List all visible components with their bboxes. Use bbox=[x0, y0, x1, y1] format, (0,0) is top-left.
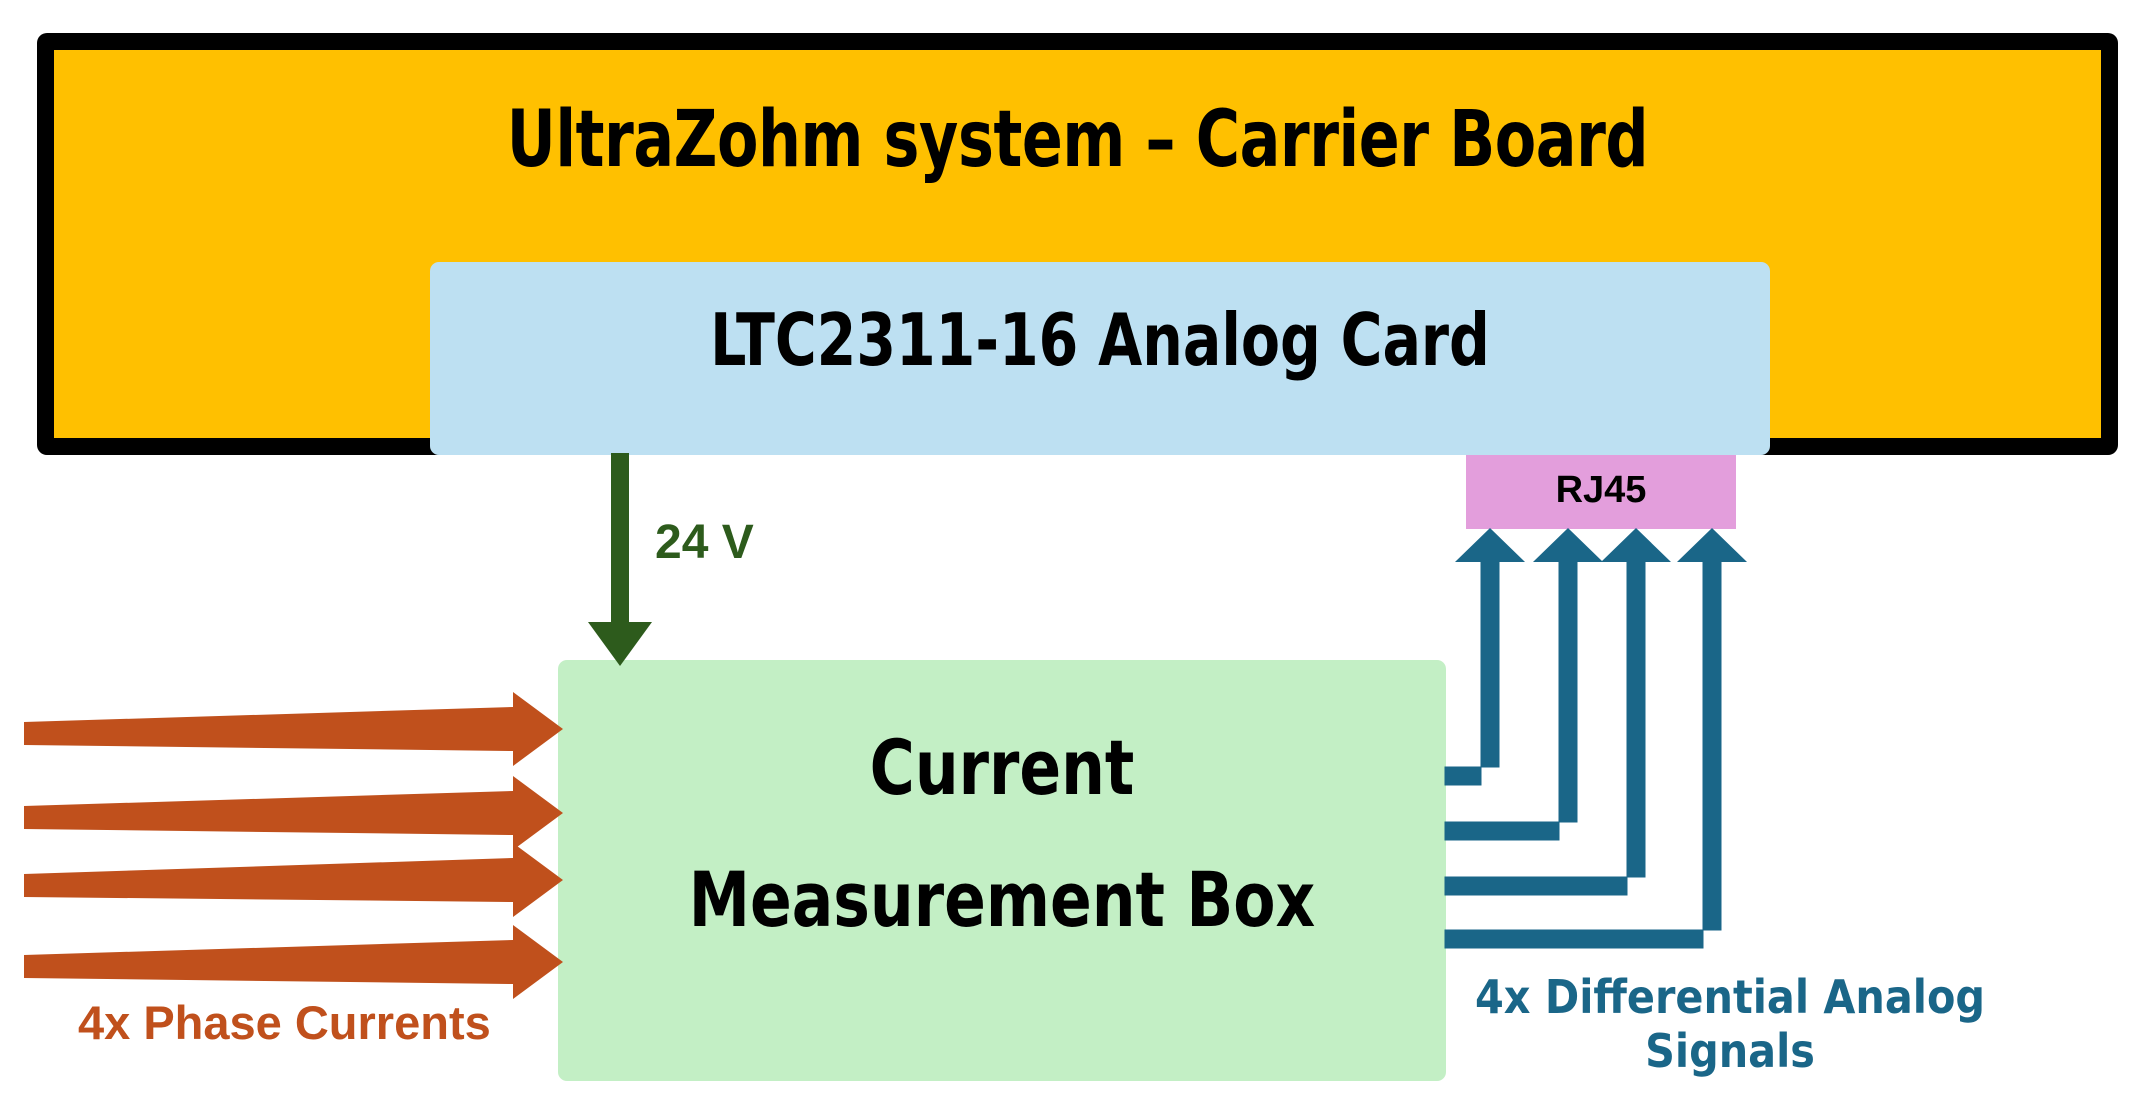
carrier-board-title: UltraZohm system – Carrier Board bbox=[197, 95, 1957, 185]
diagram-canvas: UltraZohm system – Carrier Board LTC2311… bbox=[0, 0, 2134, 1110]
phase-currents-label: 4x Phase Currents bbox=[78, 995, 491, 1050]
rj45-connector-block: RJ45 bbox=[1466, 455, 1736, 529]
phase-current-arrow-2 bbox=[24, 776, 563, 850]
power-arrow-24v bbox=[588, 453, 652, 666]
analog-signal-arrow-4 bbox=[1445, 528, 1747, 948]
measurement-box-title-line1: Current bbox=[602, 723, 1401, 812]
current-measurement-box-block: Current Measurement Box bbox=[558, 660, 1446, 1081]
power-voltage-label: 24 V bbox=[655, 515, 754, 570]
phase-current-arrow-4 bbox=[24, 925, 563, 999]
measurement-box-title-line2: Measurement Box bbox=[602, 855, 1401, 944]
phase-current-arrow-1 bbox=[24, 692, 563, 766]
analog-card-title: LTC2311-16 Analog Card bbox=[510, 298, 1689, 382]
analog-signal-arrow-3 bbox=[1445, 528, 1671, 895]
phase-current-arrow-3 bbox=[24, 843, 563, 917]
differential-analog-signals-label: 4x Differential Analog Signals bbox=[1470, 970, 1990, 1079]
analog-card-block: LTC2311-16 Analog Card bbox=[430, 262, 1770, 455]
analog-signal-arrow-2 bbox=[1445, 528, 1603, 840]
analog-signal-arrow-1 bbox=[1445, 528, 1525, 785]
rj45-label: RJ45 bbox=[1466, 469, 1736, 512]
